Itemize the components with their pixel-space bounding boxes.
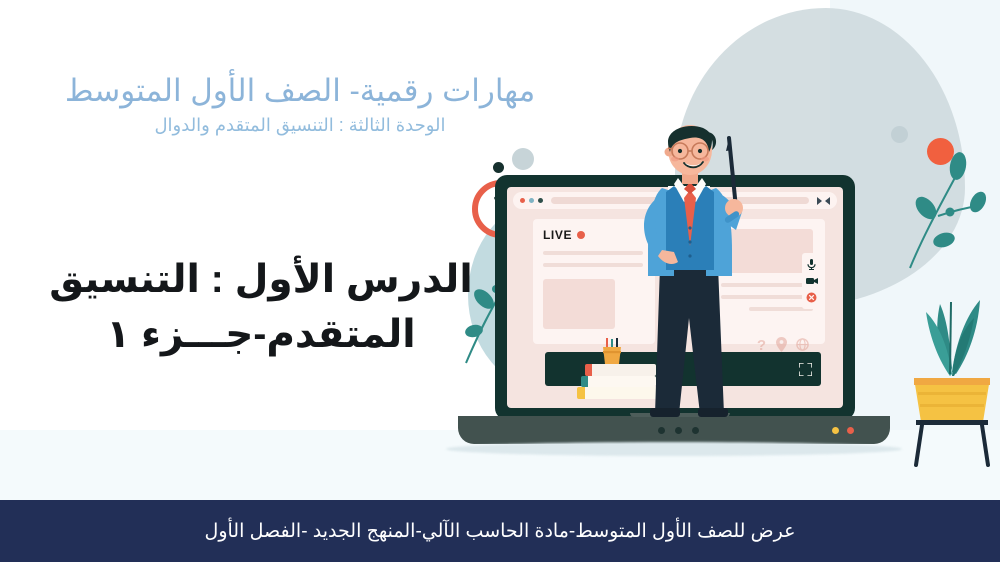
window-dot-1[interactable] xyxy=(538,198,543,203)
end-call-icon[interactable] xyxy=(806,292,817,303)
fullscreen-icon[interactable] xyxy=(799,363,812,376)
location-pin-icon[interactable] xyxy=(776,337,787,352)
image-placeholder xyxy=(543,279,615,329)
potted-plant-icon xyxy=(904,238,1000,468)
window-dot-3[interactable] xyxy=(520,198,525,203)
live-indicator-dot xyxy=(577,231,585,239)
slide-canvas: مهارات رقمية- الصف الأول المتوسط الوحدة … xyxy=(0,0,1000,562)
base-dot xyxy=(658,427,665,434)
led-yellow xyxy=(832,427,839,434)
microphone-icon[interactable] xyxy=(807,259,816,270)
online-teacher-illustration: LIVE xyxy=(440,120,1000,480)
window-dots[interactable] xyxy=(520,198,543,203)
video-camera-icon[interactable] xyxy=(806,277,818,285)
teacher-character xyxy=(610,116,770,426)
arrow-left-icon[interactable] xyxy=(825,197,830,205)
globe-icon[interactable] xyxy=(796,338,809,351)
call-controls-strip[interactable] xyxy=(802,253,821,309)
footer-text: عرض للصف الأول المتوسط-مادة الحاسب الآلي… xyxy=(205,520,796,543)
footer-bar: عرض للصف الأول المتوسط-مادة الحاسب الآلي… xyxy=(0,500,1000,562)
header-title: مهارات رقمية- الصف الأول المتوسط xyxy=(0,72,600,111)
page-title: الدرس الأول : التنسيق المتقدم-جـــزء ١ xyxy=(22,252,500,363)
live-badge: LIVE xyxy=(543,228,585,242)
dot-dark-small xyxy=(493,162,504,173)
window-dot-2[interactable] xyxy=(529,198,534,203)
base-dot xyxy=(692,427,699,434)
navigation-arrows[interactable] xyxy=(817,197,830,205)
live-label: LIVE xyxy=(543,228,572,242)
led-red xyxy=(847,427,854,434)
dot-gray-large xyxy=(512,148,534,170)
base-dot xyxy=(675,427,682,434)
laptop-shadow xyxy=(446,442,902,456)
laptop-base-leds xyxy=(832,427,854,434)
dot-gray-right xyxy=(891,126,908,143)
laptop-base-dots xyxy=(658,427,699,434)
arrow-right-icon[interactable] xyxy=(817,197,822,205)
